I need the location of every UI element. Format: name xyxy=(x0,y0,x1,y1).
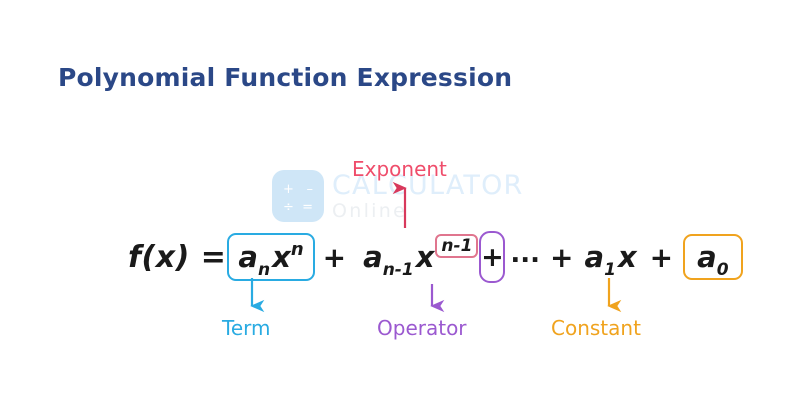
equals-icon: = xyxy=(302,201,313,214)
operator-box: + xyxy=(479,231,505,283)
operator-plus-2: + xyxy=(481,242,504,273)
label-exponent: Exponent xyxy=(352,157,447,181)
watermark-subtitle: Online xyxy=(332,202,524,221)
exponent-value: n-1 xyxy=(441,236,472,256)
page-title: Polynomial Function Expression xyxy=(58,63,512,92)
term-variable-exponent: n xyxy=(291,239,304,260)
second-term-coefficient: a xyxy=(363,240,383,274)
term-coefficient: a xyxy=(238,240,258,274)
second-term-expression: an-1x xyxy=(363,240,434,274)
constant-expression: a0 xyxy=(697,240,728,274)
third-term-coefficient-subscript: 1 xyxy=(604,260,616,280)
operator-plus-4: + xyxy=(643,241,680,274)
calculator-icon: + – ÷ = xyxy=(272,170,324,222)
term-variable: x xyxy=(272,240,291,274)
exponent-box: n-1 xyxy=(435,234,478,258)
connector-arrows xyxy=(0,0,800,400)
constant-coefficient: a xyxy=(697,240,717,274)
term-expression: anxn xyxy=(238,240,303,274)
label-term: Term xyxy=(222,316,270,340)
plus-icon: + xyxy=(283,183,294,196)
constant-box: a0 xyxy=(683,234,742,280)
constant-coefficient-subscript: 0 xyxy=(717,260,729,280)
label-constant: Constant xyxy=(551,316,641,340)
label-operator: Operator xyxy=(377,316,467,340)
term-coefficient-subscript: n xyxy=(258,260,270,280)
third-term-expression: a1x xyxy=(585,240,637,274)
third-term-variable: x xyxy=(618,240,637,274)
ellipsis: ... xyxy=(506,239,543,275)
term-box: anxn xyxy=(227,233,314,281)
function-notation: f(x) = xyxy=(128,240,226,275)
third-term-coefficient: a xyxy=(585,240,605,274)
second-term-variable: x xyxy=(416,240,435,274)
divide-icon: ÷ xyxy=(283,201,294,214)
minus-icon: – xyxy=(307,183,314,196)
operator-plus-1: + xyxy=(316,241,353,274)
second-term-coefficient-subscript: n-1 xyxy=(383,260,414,280)
polynomial-formula: f(x) = anxn + an-1x n-1 + ... + a1x + a0 xyxy=(128,228,743,286)
operator-plus-3: + xyxy=(543,241,580,274)
